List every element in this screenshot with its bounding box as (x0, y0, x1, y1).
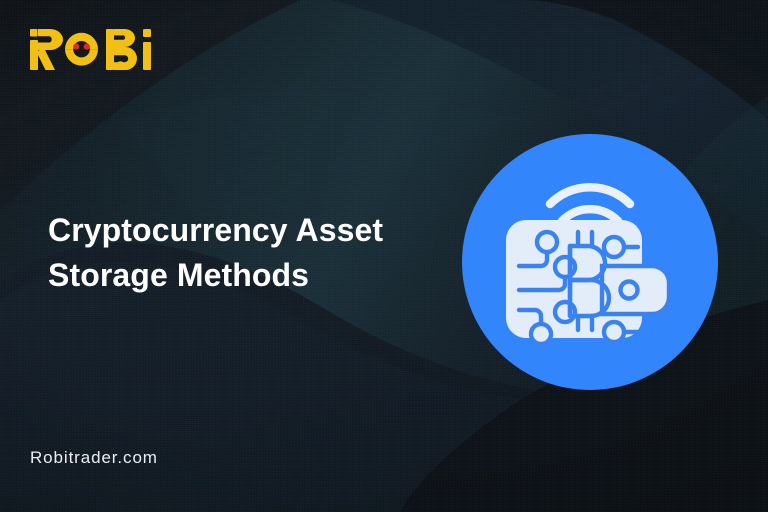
logo-b-letter (106, 29, 137, 70)
logo-r-bowl (38, 29, 63, 50)
circuit-node (537, 232, 557, 252)
logo-eye-right (84, 44, 90, 50)
logo-i-letter (143, 29, 151, 70)
circuit-node (531, 324, 551, 344)
logo-r-stem (30, 40, 38, 70)
logo-o-ring (65, 33, 98, 66)
robi-logo[interactable] (28, 26, 168, 72)
crypto-wallet-icon-graphic (462, 134, 718, 390)
logo-eye-left (73, 44, 79, 50)
circuit-node (604, 237, 624, 257)
page-title-line-1: Cryptocurrency Asset (48, 208, 468, 253)
logo-b-dot (116, 61, 125, 70)
wallet-clasp-button (621, 282, 638, 299)
logo-r-dot (30, 29, 38, 37)
logo-robot-eyes (73, 44, 90, 50)
page-title: Cryptocurrency Asset Storage Methods (48, 208, 468, 298)
logo-r-leg (36, 49, 55, 70)
banner-canvas: Cryptocurrency Asset Storage Methods Rob… (0, 0, 768, 512)
site-url[interactable]: Robitrader.com (30, 448, 158, 468)
crypto-wallet-icon (462, 134, 718, 390)
page-title-line-2: Storage Methods (48, 253, 468, 298)
circuit-node (604, 322, 624, 342)
robi-logo-mark (28, 26, 168, 72)
